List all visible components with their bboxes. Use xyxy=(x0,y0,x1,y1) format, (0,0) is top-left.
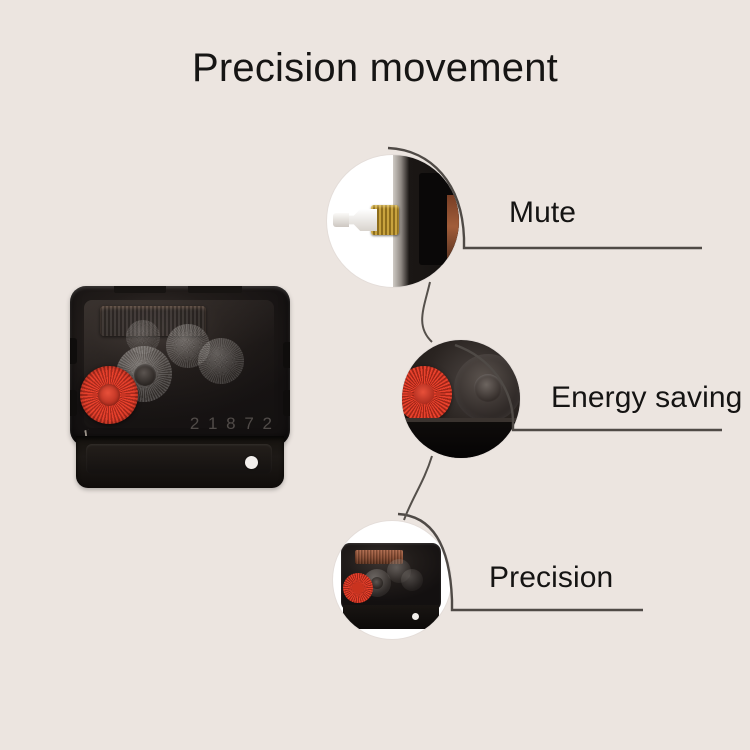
callout-circle-mute xyxy=(327,155,459,287)
side-notch-right-upper xyxy=(283,342,290,368)
red-adjustment-wheel xyxy=(80,366,138,424)
product-image-clock-movement: 2 1 8 7 2 xyxy=(70,286,290,491)
shaft-coil xyxy=(447,195,459,265)
movement-body: 2 1 8 7 2 xyxy=(70,286,290,446)
gear-mini-c xyxy=(401,569,423,591)
callout-label-precision: Precision xyxy=(489,561,613,595)
gear-right xyxy=(198,338,244,384)
callout-label-mute: Mute xyxy=(509,196,576,230)
gear-hub xyxy=(134,364,156,386)
product-infographic: Precision movement 2 1 8 7 2 xyxy=(0,0,750,750)
movement-body-mini xyxy=(341,543,441,611)
side-notch-left-lower xyxy=(70,390,77,416)
callout-circle-precision xyxy=(333,521,451,639)
side-notch-left-upper xyxy=(70,338,77,364)
top-lug-left xyxy=(114,286,166,293)
callout-label-energy-saving: Energy saving xyxy=(551,381,742,415)
battery-compartment-closeup xyxy=(402,422,520,458)
battery-compartment xyxy=(76,436,284,488)
connector-between-mute-and-energy xyxy=(422,282,432,342)
large-gear-hub xyxy=(474,374,502,402)
top-lug-right xyxy=(188,286,242,293)
connector-between-energy-and-precision xyxy=(404,456,432,520)
red-adjustment-wheel-mini xyxy=(343,573,373,603)
battery-indicator-dot-mini xyxy=(412,613,419,620)
engraved-mark: 2 1 8 7 2 xyxy=(190,414,274,434)
shaft-tip xyxy=(333,213,349,227)
battery-indicator-dot xyxy=(245,456,258,469)
side-notch-right-lower xyxy=(283,390,290,416)
callout-circle-energy-saving xyxy=(402,340,520,458)
page-title: Precision movement xyxy=(0,46,750,91)
battery-compartment-mini xyxy=(343,605,439,629)
